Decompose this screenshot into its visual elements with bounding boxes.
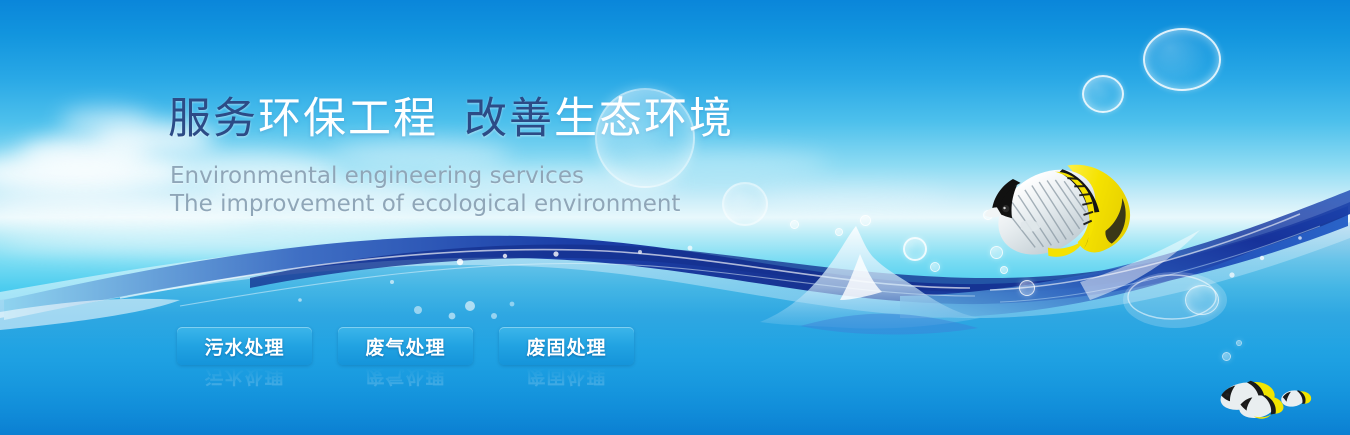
service-button-wastegas-wrap: 废气处理 废气处理 [338,327,473,365]
bubble-icon [1236,340,1242,346]
subtitle-line-1: Environmental engineering services [170,162,584,190]
bubble-icon [1082,75,1124,113]
bubble-icon [903,237,927,261]
cloud-icon [20,135,150,175]
service-button-wastewater-label: 污水处理 [204,333,284,360]
bubble-icon [722,182,768,226]
bubble-icon [1222,352,1231,361]
subtitle-line-2: The improvement of ecological environmen… [170,190,680,218]
service-button-solidwaste-label: 废固处理 [526,333,606,360]
headline-part1-dark: 服务 [168,94,258,144]
butterflyfish-icon [969,128,1150,293]
cloud-icon [760,186,950,208]
service-button-wastewater-reflection: 污水处理 [177,367,312,393]
bubble-icon [835,228,843,236]
bubble-icon [930,262,940,272]
cloud-icon [0,150,180,196]
bubble-icon [595,88,695,188]
service-button-wastegas[interactable]: 废气处理 [338,327,473,365]
bubble-icon [1185,285,1219,315]
service-button-row: 污水处理 污水处理 废气处理 废气处理 废固处理 废固处理 [177,327,634,365]
bubble-icon [860,215,871,226]
cloud-icon [0,230,430,256]
headline-part1-light: 环保工程 [258,94,438,144]
service-button-wastewater-wrap: 污水处理 污水处理 [177,327,312,365]
hero-banner: 服务环保工程改善生态环境 Environmental engineering s… [0,0,1350,435]
service-button-solidwaste-reflection: 废固处理 [499,367,634,393]
service-button-solidwaste-wrap: 废固处理 废固处理 [499,327,634,365]
bubble-icon [1143,28,1221,91]
headline-part2-dark: 改善 [464,94,554,144]
service-button-wastegas-label: 废气处理 [365,333,445,360]
service-button-wastewater[interactable]: 污水处理 [177,327,312,365]
cloud-icon [60,108,150,134]
butterflyfish-icon [1279,386,1312,411]
service-button-solidwaste[interactable]: 废固处理 [499,327,634,365]
bubble-icon [790,220,799,229]
service-button-wastegas-reflection: 废气处理 [338,367,473,393]
